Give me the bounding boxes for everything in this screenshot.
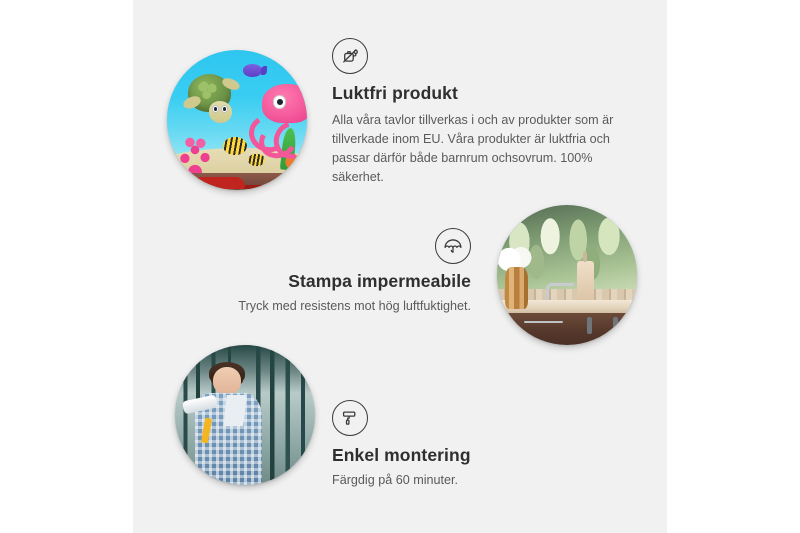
no-fragrance-icon — [332, 38, 368, 74]
feature-body: Färgdig på 60 minuter. — [332, 471, 612, 490]
wooden-vanity — [505, 313, 637, 345]
photo-bathroom-botanical — [497, 205, 637, 345]
woman-face — [213, 367, 241, 395]
feature-block-odourless: Luktfri produkt Alla våra tavlor tillver… — [332, 38, 632, 187]
icon-row — [215, 228, 471, 264]
turtle-eye-left — [212, 105, 219, 113]
feature-body: Alla våra tavlor tillverkas i och av pro… — [332, 111, 632, 188]
feature-title: Luktfri produkt — [332, 83, 632, 105]
paint-roller-icon — [332, 400, 368, 436]
gold-vase — [505, 267, 527, 309]
underwater-illustration — [167, 50, 307, 190]
octopus-icon — [248, 84, 307, 151]
feature-block-easy-install: Enkel montering Färgdig på 60 minuter. — [332, 400, 612, 490]
forest-canopy — [175, 345, 315, 393]
screenshot-root: Luktfri produkt Alla våra tavlor tillver… — [0, 0, 800, 533]
woman-shirt-collar — [224, 395, 247, 426]
octopus-head — [262, 84, 307, 123]
fish-yellow-small-icon — [248, 154, 265, 167]
octopus-eye — [273, 95, 286, 108]
photo-painter-forest — [175, 345, 315, 485]
sea-foreground-strip — [167, 173, 307, 190]
turtle-icon — [185, 74, 244, 127]
fish-blue-icon — [243, 64, 263, 77]
painter-scene — [175, 345, 315, 485]
coral-icon — [177, 134, 213, 176]
bathroom-scene — [497, 205, 637, 345]
soap-dispenser — [577, 261, 594, 303]
umbrella-icon — [435, 228, 471, 264]
feature-block-waterproof: Stampa impermeabile Tryck med resistens … — [215, 228, 471, 316]
turtle-eye-right — [221, 105, 228, 113]
feature-title: Stampa impermeabile — [215, 271, 471, 293]
photo-underwater-cartoon — [167, 50, 307, 190]
fish-yellow-icon — [223, 137, 247, 155]
feature-title: Enkel montering — [332, 445, 612, 467]
feature-body: Tryck med resistens mot hög luftfuktighe… — [215, 297, 471, 316]
turtle-head — [209, 101, 233, 122]
